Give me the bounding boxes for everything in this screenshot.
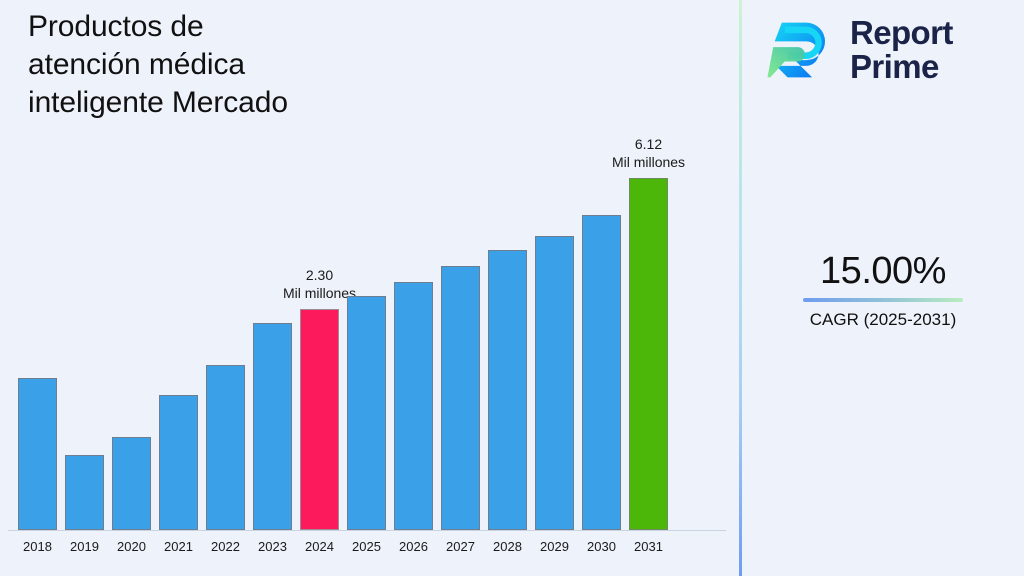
bar-2019[interactable] xyxy=(65,455,104,530)
x-tick-2031: 2031 xyxy=(621,539,677,554)
bar-2024[interactable] xyxy=(300,309,339,530)
bar-2018[interactable] xyxy=(18,378,57,530)
cagr-value: 15.00% xyxy=(742,252,1024,292)
bar-2020[interactable] xyxy=(112,437,151,530)
bar-2025[interactable] xyxy=(347,296,386,530)
cagr-caption: CAGR (2025-2031) xyxy=(742,310,1024,330)
brand-name: Report Prime xyxy=(850,16,953,83)
bar-2031[interactable] xyxy=(629,178,668,530)
cagr-block: 15.00% CAGR (2025-2031) xyxy=(742,252,1024,330)
bar-2021[interactable] xyxy=(159,395,198,530)
cagr-divider-rule xyxy=(803,298,963,302)
chart-infographic-root: Productos de atención médica inteligente… xyxy=(0,0,1024,576)
bar-2023[interactable] xyxy=(253,323,292,530)
bar-2027[interactable] xyxy=(441,266,480,530)
bar-value-label-2031: 6.12 Mil millones xyxy=(574,136,724,171)
bar-chart-plot-area: 2018201920202021202220232.30 Mil millone… xyxy=(0,0,740,576)
summary-panel: Report Prime 15.00% CAGR (2025-2031) xyxy=(742,0,1024,576)
bar-2030[interactable] xyxy=(582,215,621,530)
brand-logo: Report Prime xyxy=(766,14,953,86)
x-axis-line xyxy=(8,530,726,531)
chart-panel: Productos de atención médica inteligente… xyxy=(0,0,740,576)
bar-2026[interactable] xyxy=(394,282,433,530)
bar-2022[interactable] xyxy=(206,365,245,530)
bar-2028[interactable] xyxy=(488,250,527,530)
report-prime-logo-icon xyxy=(766,14,838,86)
bar-2029[interactable] xyxy=(535,236,574,530)
